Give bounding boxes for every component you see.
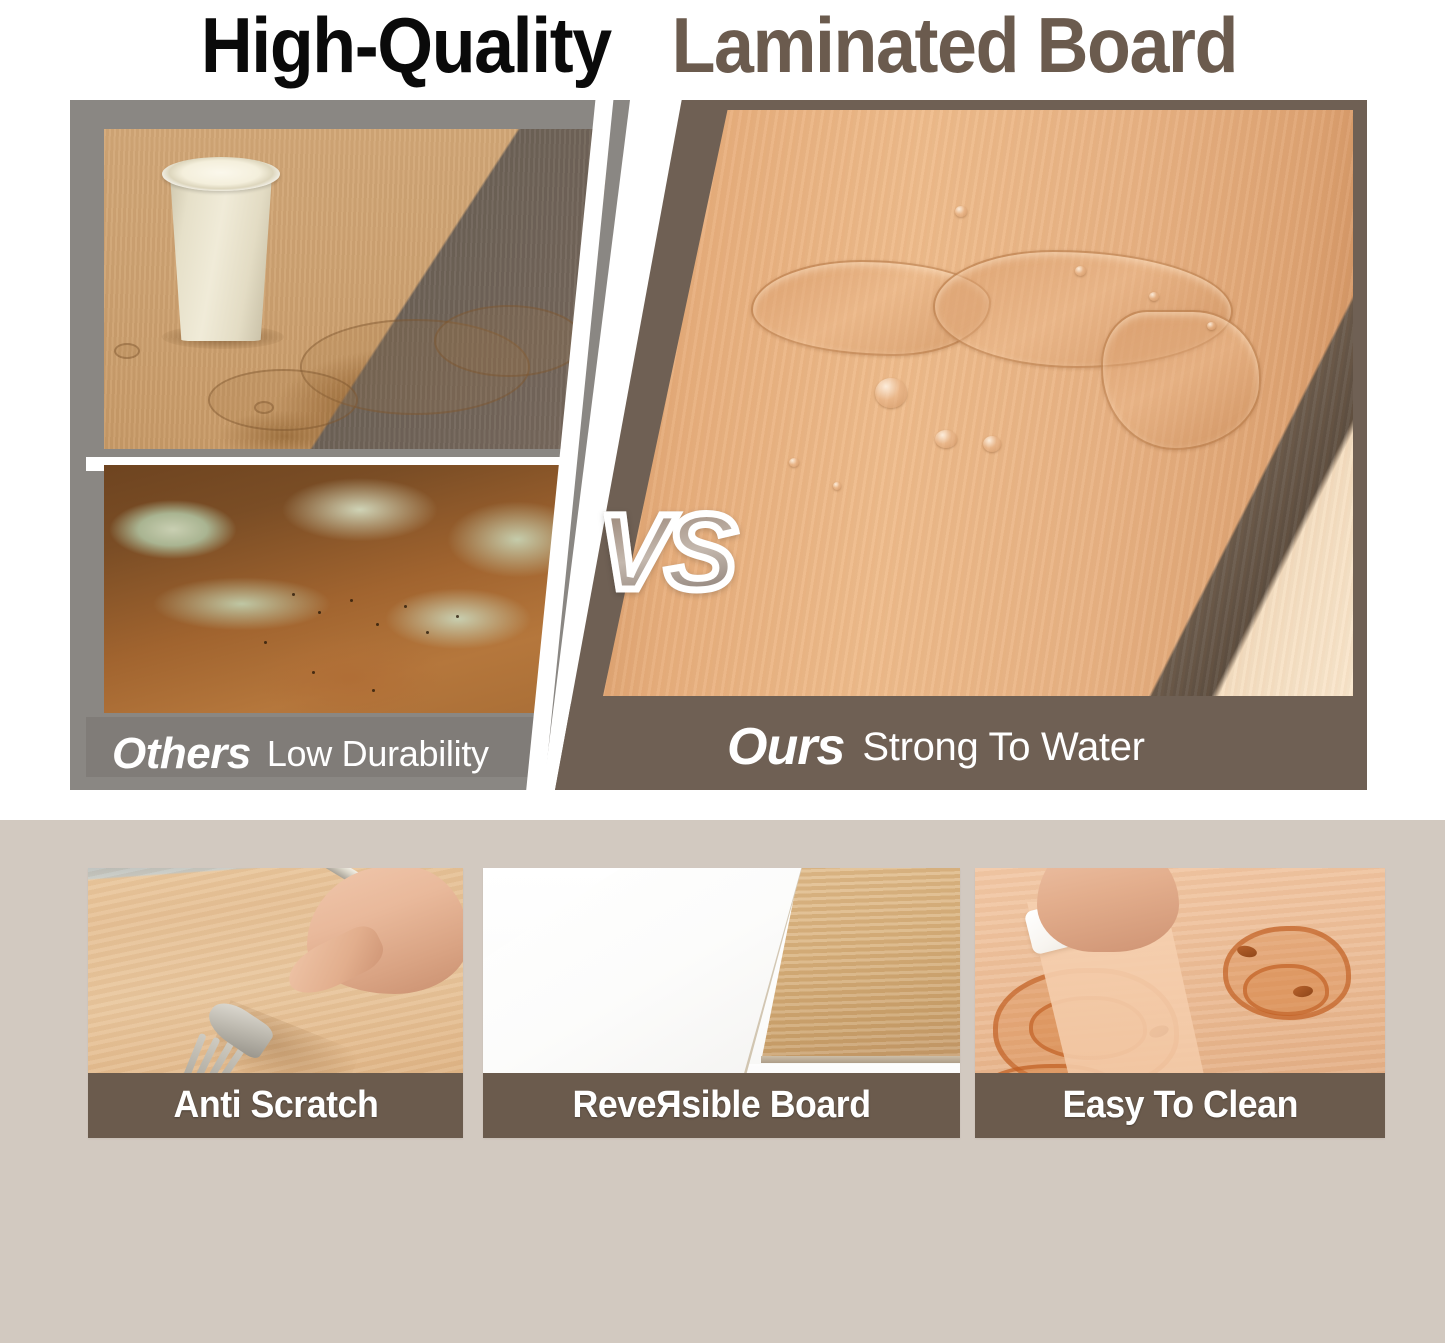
others-mold-photo (104, 465, 596, 713)
mold-speck (372, 689, 375, 692)
water-bead (1149, 292, 1159, 301)
feature-card-anti-scratch: Anti Scratch (88, 868, 463, 1138)
ours-panel: Ours Strong To Water (555, 100, 1367, 790)
vs-badge: VS (575, 496, 755, 608)
mold-speck (312, 671, 315, 674)
paper-cup-rim (162, 157, 280, 191)
mold-speck (264, 641, 267, 644)
mold-speck (318, 611, 321, 614)
others-subtitle: Low Durability (267, 733, 489, 775)
water-bead (983, 436, 1001, 452)
spill-stain-shape (434, 305, 584, 377)
feature-caption-label: ReveЯsible Board (572, 1084, 870, 1127)
mold-speck (292, 593, 295, 596)
ours-label: Ours (727, 717, 844, 777)
others-coffee-spill-photo (104, 129, 609, 449)
mold-speck (376, 623, 379, 626)
mold-speck (456, 615, 459, 618)
feature-caption-bar: Easy To Clean (975, 1073, 1385, 1138)
others-label: Others (112, 729, 251, 779)
water-bead (833, 482, 841, 490)
mold-speck (404, 605, 407, 608)
spill-droplet (114, 343, 140, 359)
feature-caption-label: Easy To Clean (1062, 1084, 1297, 1127)
water-bead (955, 206, 967, 217)
feature-caption-bar: Anti Scratch (88, 1073, 463, 1138)
feature-caption-bar: ReveЯsible Board (483, 1073, 960, 1138)
water-runoff-drip (1101, 310, 1261, 450)
comparison-section: Others Low Durability Ours Strong To Wat… (0, 92, 1445, 804)
water-bead (1075, 266, 1086, 276)
mold-speck (350, 599, 353, 602)
feature-card-easy-to-clean: Easy To Clean (975, 868, 1385, 1138)
others-panel-inner: Others Low Durability (86, 113, 614, 777)
sauce-stain (1243, 964, 1329, 1016)
feature-card-reversible-board: ReveЯsible Board (483, 868, 960, 1138)
title-part-two: Laminated Board (672, 6, 1237, 84)
hand (1037, 868, 1179, 952)
water-bead (1207, 322, 1216, 330)
ours-subtitle: Strong To Water (862, 725, 1144, 770)
water-bead (789, 458, 799, 467)
spill-stain-shape (208, 369, 358, 431)
feature-caption-label: Anti Scratch (173, 1084, 378, 1127)
spill-droplet (254, 401, 274, 414)
title-part-one: High-Quality (201, 6, 611, 84)
water-bead (935, 430, 957, 448)
page-title: High-Quality Laminated Board (0, 0, 1445, 90)
ours-caption-bar: Ours Strong To Water (555, 704, 1367, 790)
features-section: Anti Scratch ReveЯsible Board (0, 820, 1445, 1343)
water-bead (875, 378, 907, 408)
wood-sheet-edge (761, 1056, 960, 1063)
paper-cup (166, 165, 276, 341)
mold-speck (426, 631, 429, 634)
